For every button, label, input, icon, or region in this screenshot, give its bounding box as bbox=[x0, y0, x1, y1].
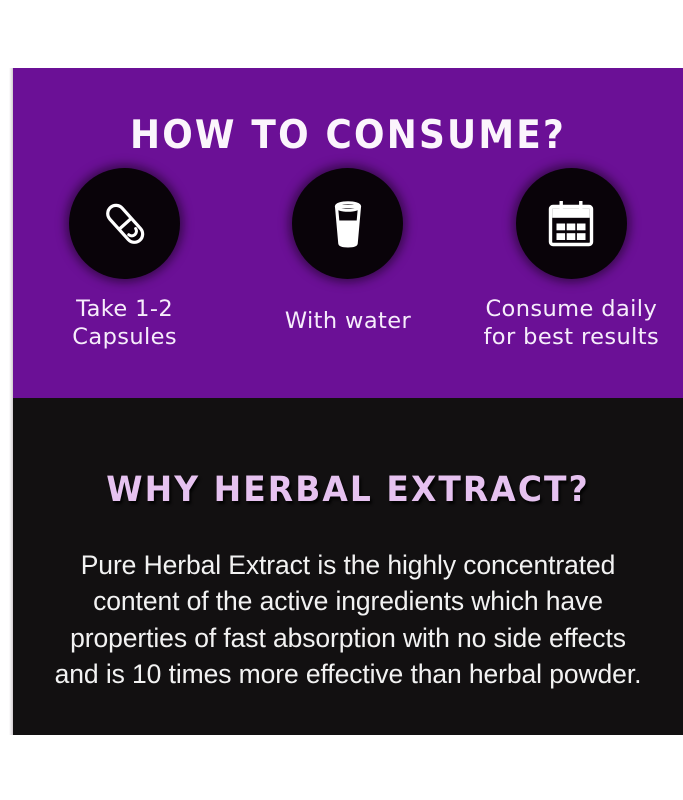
step-icon-badge bbox=[69, 168, 180, 279]
calendar-icon bbox=[543, 196, 599, 252]
how-to-consume-section: HOW TO CONSUME? Take 1-2 bbox=[13, 68, 683, 398]
why-herbal-extract-section: WHY HERBAL EXTRACT? Pure Herbal Extract … bbox=[13, 398, 683, 735]
infographic-card: HOW TO CONSUME? Take 1-2 bbox=[0, 0, 683, 800]
section-heading: WHY HERBAL EXTRACT? bbox=[33, 473, 663, 508]
step-icon-badge bbox=[292, 168, 403, 279]
step-label: With water bbox=[285, 307, 411, 335]
step-with-water: With water bbox=[240, 168, 455, 335]
steps-row: Take 1-2 Capsules bbox=[13, 168, 683, 398]
water-glass-icon bbox=[320, 196, 376, 252]
step-label: Take 1-2 Capsules bbox=[72, 295, 177, 352]
section-body-text: Pure Herbal Extract is the highly concen… bbox=[35, 547, 661, 693]
page-title: HOW TO CONSUME? bbox=[40, 116, 656, 155]
step-consume-daily: Consume daily for best results bbox=[464, 168, 679, 352]
capsule-icon bbox=[97, 196, 153, 252]
step-label: Consume daily for best results bbox=[483, 295, 659, 352]
step-icon-badge bbox=[516, 168, 627, 279]
step-take-capsules: Take 1-2 Capsules bbox=[17, 168, 232, 352]
